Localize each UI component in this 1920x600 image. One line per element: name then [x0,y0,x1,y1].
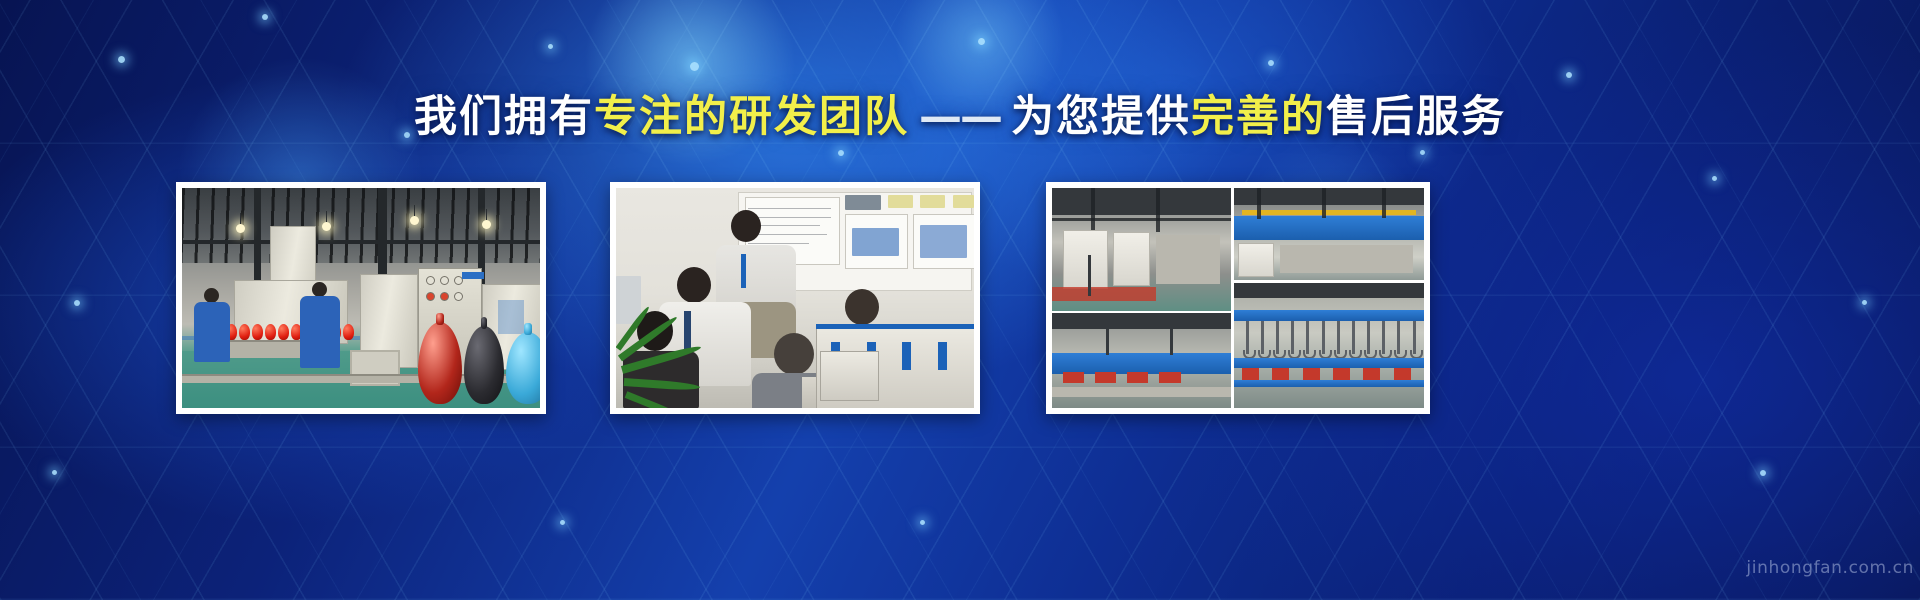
headline-dash: —— [909,92,1011,142]
photo-rd-team-meeting[interactable] [610,182,980,414]
headline-segment-2: 专注的研发团队 [594,92,909,142]
foreground-plant [616,329,723,408]
headline-segment-5: 售后服务 [1326,92,1506,142]
photo-production-line[interactable] [176,182,546,414]
site-watermark: jinhongfan.com.cn [1746,558,1914,578]
photo-factory-equipment[interactable] [1046,182,1430,414]
photo-gallery [0,182,1920,414]
photo-rd-team-meeting-image [616,188,974,408]
photo-production-line-image [182,188,540,408]
headline-segment-4: 完善的 [1191,92,1326,142]
photo-factory-equipment-image [1052,188,1424,408]
promo-banner: 我们拥有专注的研发团队——为您提供完善的售后服务 [0,0,1920,600]
headline-segment-3: 为您提供 [1011,92,1191,142]
headline-segment-1: 我们拥有 [414,92,594,142]
page-title: 我们拥有专注的研发团队——为您提供完善的售后服务 [0,82,1920,144]
